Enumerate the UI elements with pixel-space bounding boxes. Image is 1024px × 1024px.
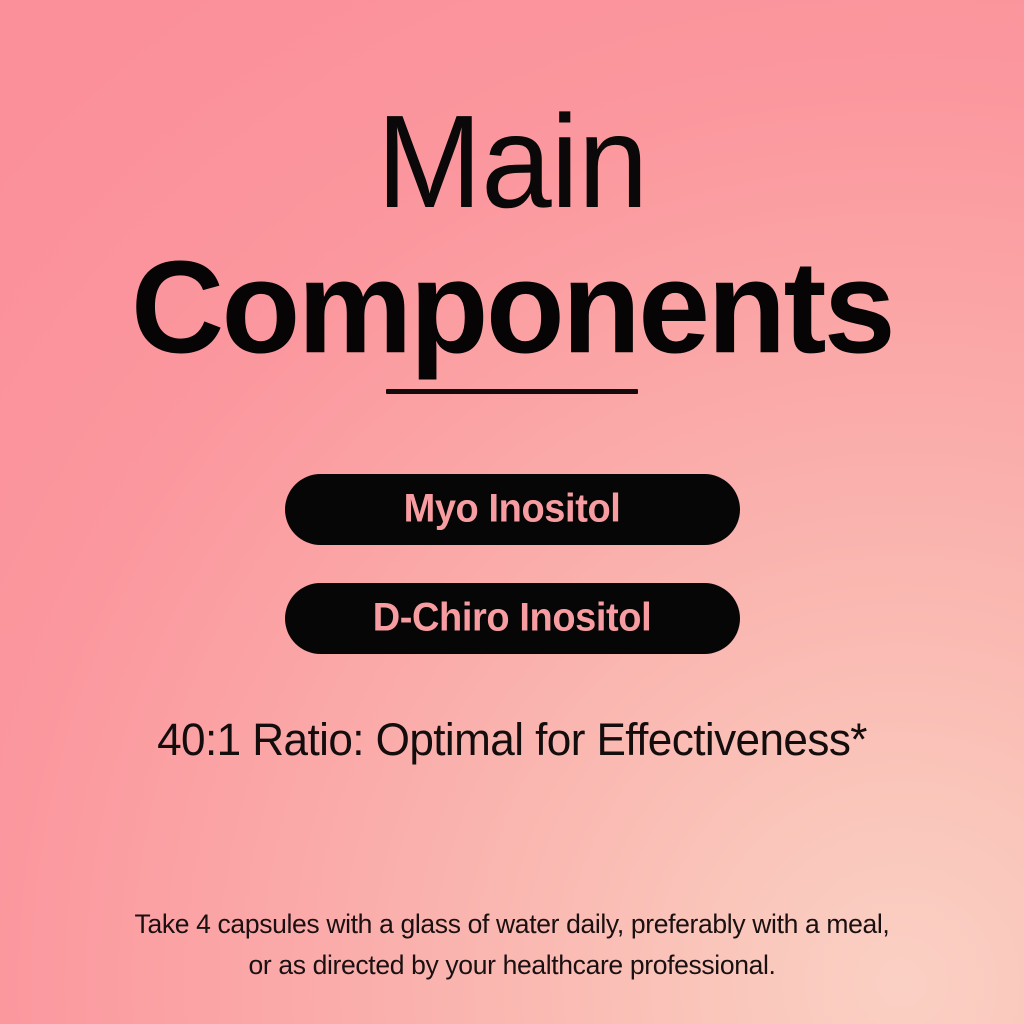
product-info-poster: Main Components Myo Inositol D-Chiro Ino… — [0, 0, 1024, 1024]
component-pill-label: Myo Inositol — [404, 487, 621, 532]
title-divider-wrap — [0, 389, 1024, 394]
title-divider — [386, 389, 638, 394]
directions-line-1: Take 4 capsules with a glass of water da… — [0, 904, 1024, 945]
component-pill-label: D-Chiro Inositol — [373, 596, 652, 641]
ratio-statement: 40:1 Ratio: Optimal for Effectiveness* — [10, 714, 1014, 766]
page-title: Main Components — [0, 96, 1024, 366]
directions-line-2: or as directed by your healthcare profes… — [0, 945, 1024, 986]
components-list: Myo Inositol D-Chiro Inositol — [0, 474, 1024, 654]
component-pill-myo-inositol[interactable]: Myo Inositol — [285, 474, 740, 545]
directions-for-use: Take 4 capsules with a glass of water da… — [0, 904, 1024, 986]
title-line-main: Main — [20, 96, 1003, 228]
title-line-components: Components — [0, 242, 1024, 373]
component-pill-d-chiro-inositol[interactable]: D-Chiro Inositol — [285, 583, 740, 654]
